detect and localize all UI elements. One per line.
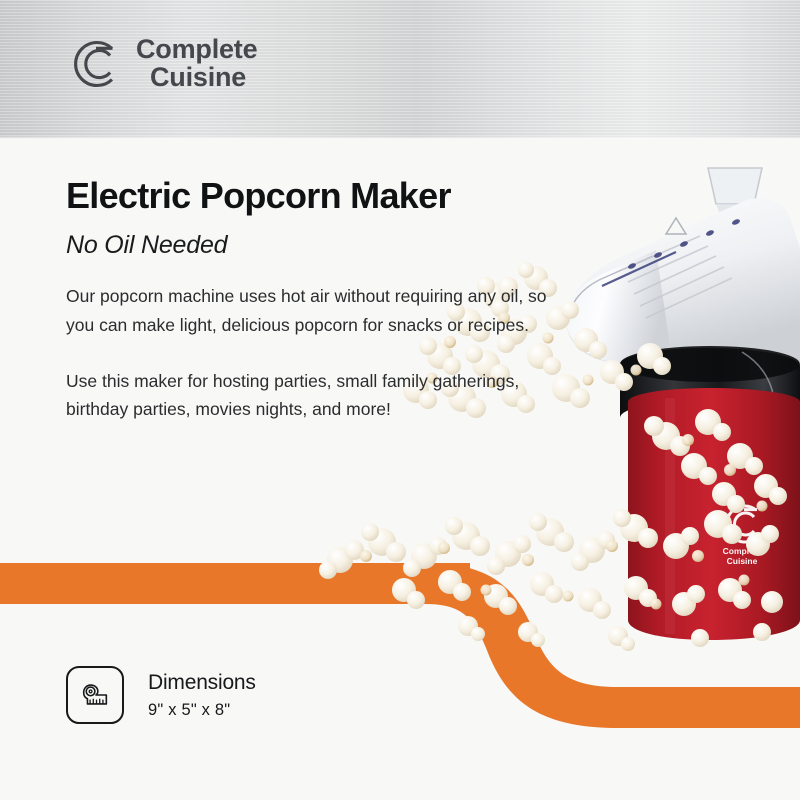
dimensions-text: Dimensions 9" x 5" x 8": [148, 670, 256, 719]
brand-header: Complete Cuisine: [0, 0, 800, 139]
product-copy: Electric Popcorn Maker No Oil Needed Our…: [66, 176, 606, 424]
product-description-2: Use this maker for hosting parties, smal…: [66, 367, 571, 424]
product-description-1: Our popcorn machine uses hot air without…: [66, 282, 571, 339]
brand-name: Complete Cuisine: [136, 36, 257, 91]
brand-name-line1: Complete: [136, 36, 257, 64]
double-c-arc-logo-icon: [66, 36, 122, 92]
measuring-tape-icon: [66, 666, 124, 724]
product-subtitle: No Oil Needed: [66, 231, 606, 260]
brand-name-line2: Cuisine: [136, 64, 257, 92]
dimensions-value: 9" x 5" x 8": [148, 701, 256, 720]
page-title: Electric Popcorn Maker: [66, 176, 606, 216]
dimensions-spec: Dimensions 9" x 5" x 8": [66, 666, 256, 724]
brand-lockup: Complete Cuisine: [66, 36, 257, 92]
dimensions-label: Dimensions: [148, 670, 256, 696]
product-info-card: Complete Cuisine: [0, 0, 800, 800]
